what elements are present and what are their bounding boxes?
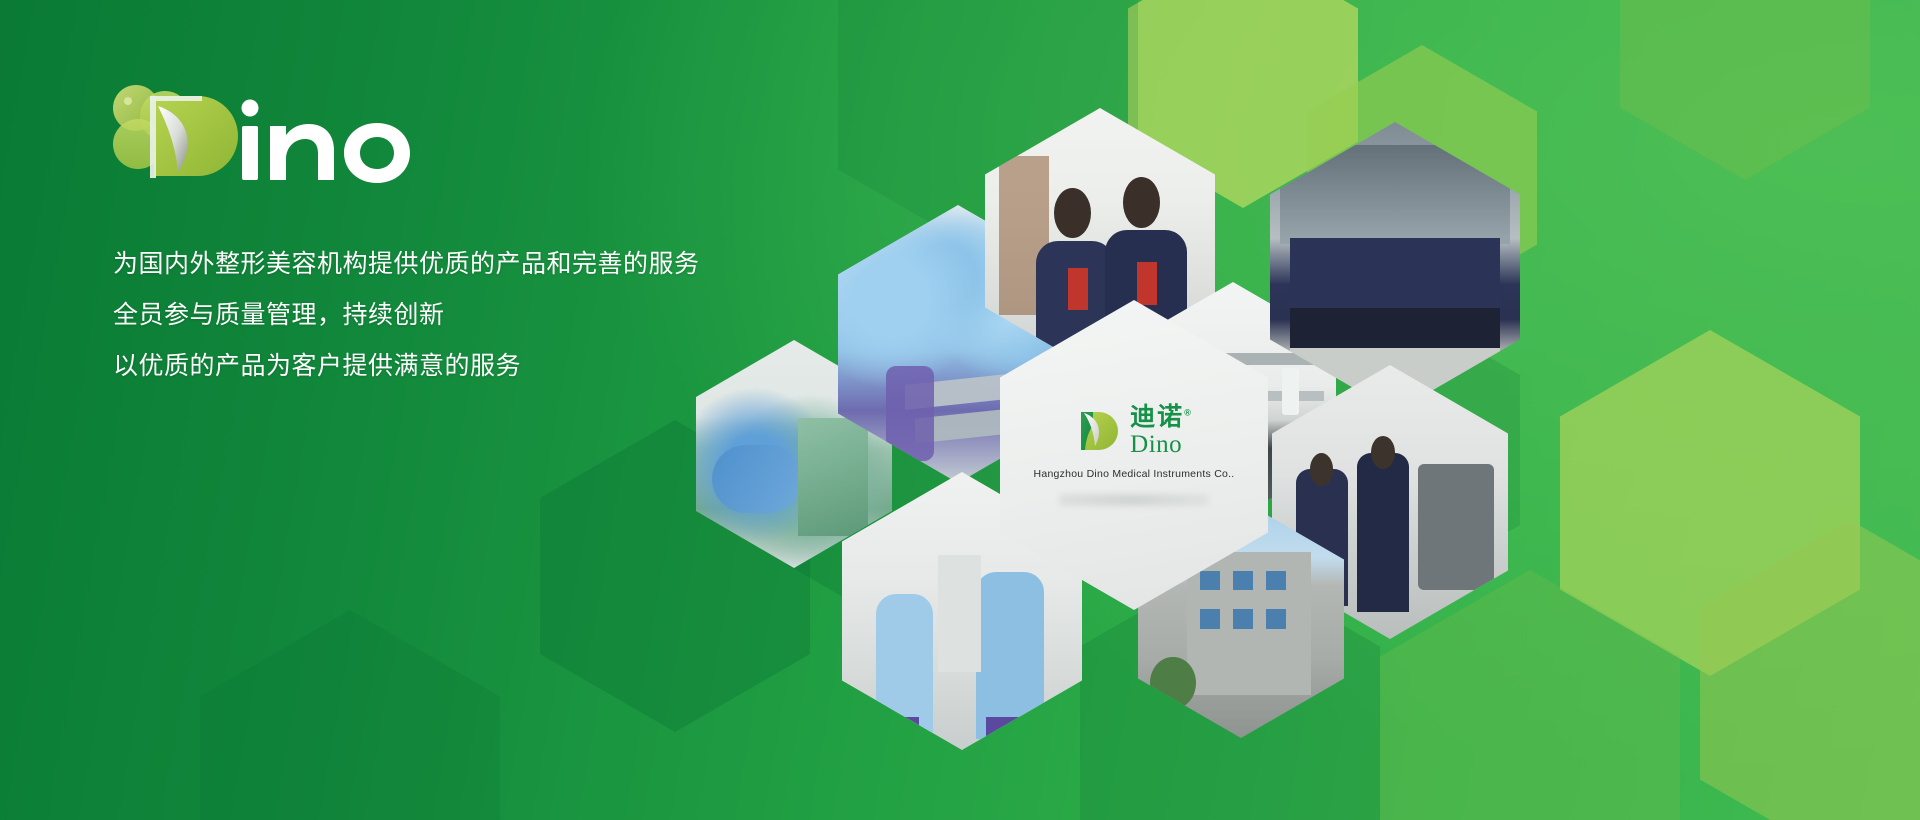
company-name: Hangzhou Dino Medical Instruments Co..: [1034, 468, 1235, 480]
photo-detail: [1123, 177, 1160, 228]
bg-hex-dark-3: [200, 610, 500, 820]
photo-detail: [1054, 188, 1091, 239]
photo-detail: [1418, 464, 1494, 590]
photo-detail: [1290, 238, 1500, 313]
photo-detail: [1200, 609, 1221, 628]
photo-detail: [885, 717, 919, 745]
photo-detail: [1137, 262, 1158, 305]
photo-detail: [986, 717, 1020, 745]
photo-hexagon-collage: 迪诺® Dino Hangzhou Dino Medical Instrumen…: [660, 100, 1920, 660]
brand-logo[interactable]: [92, 72, 522, 182]
brand-cn-text: 迪诺®: [1130, 405, 1193, 430]
photo-detail: [1233, 571, 1254, 590]
photo-detail: [1266, 571, 1287, 590]
photo-detail: [876, 594, 934, 739]
photo-detail: [798, 418, 869, 537]
photo-detail: [976, 572, 1043, 739]
hero-banner: 为国内外整形美容机构提供优质的产品和完善的服务 全员参与质量管理，持续创新 以优…: [0, 0, 1920, 820]
blurred-text-placeholder: [1059, 494, 1209, 506]
photo-detail: [1200, 571, 1221, 590]
photo-detail: [1282, 368, 1298, 416]
photo-detail: [1290, 308, 1500, 349]
dino-leaf-icon: [1075, 408, 1121, 454]
brand-en-text: Dino: [1130, 432, 1193, 457]
photo-detail: [712, 445, 802, 513]
photo-detail: [1233, 609, 1254, 628]
brand-mark: 迪诺® Dino: [1075, 405, 1193, 457]
photo-detail: [886, 366, 934, 461]
registered-mark: ®: [1184, 407, 1193, 417]
photo-detail: [1371, 436, 1395, 469]
photo-detail: [1266, 609, 1287, 628]
photo-detail: [1068, 268, 1089, 311]
dino-logo-icon: [92, 72, 522, 184]
photo-detail: [1280, 145, 1510, 244]
photo-detail: [938, 555, 981, 672]
photo-detail: [1357, 453, 1409, 612]
photo-detail: [1310, 453, 1334, 486]
